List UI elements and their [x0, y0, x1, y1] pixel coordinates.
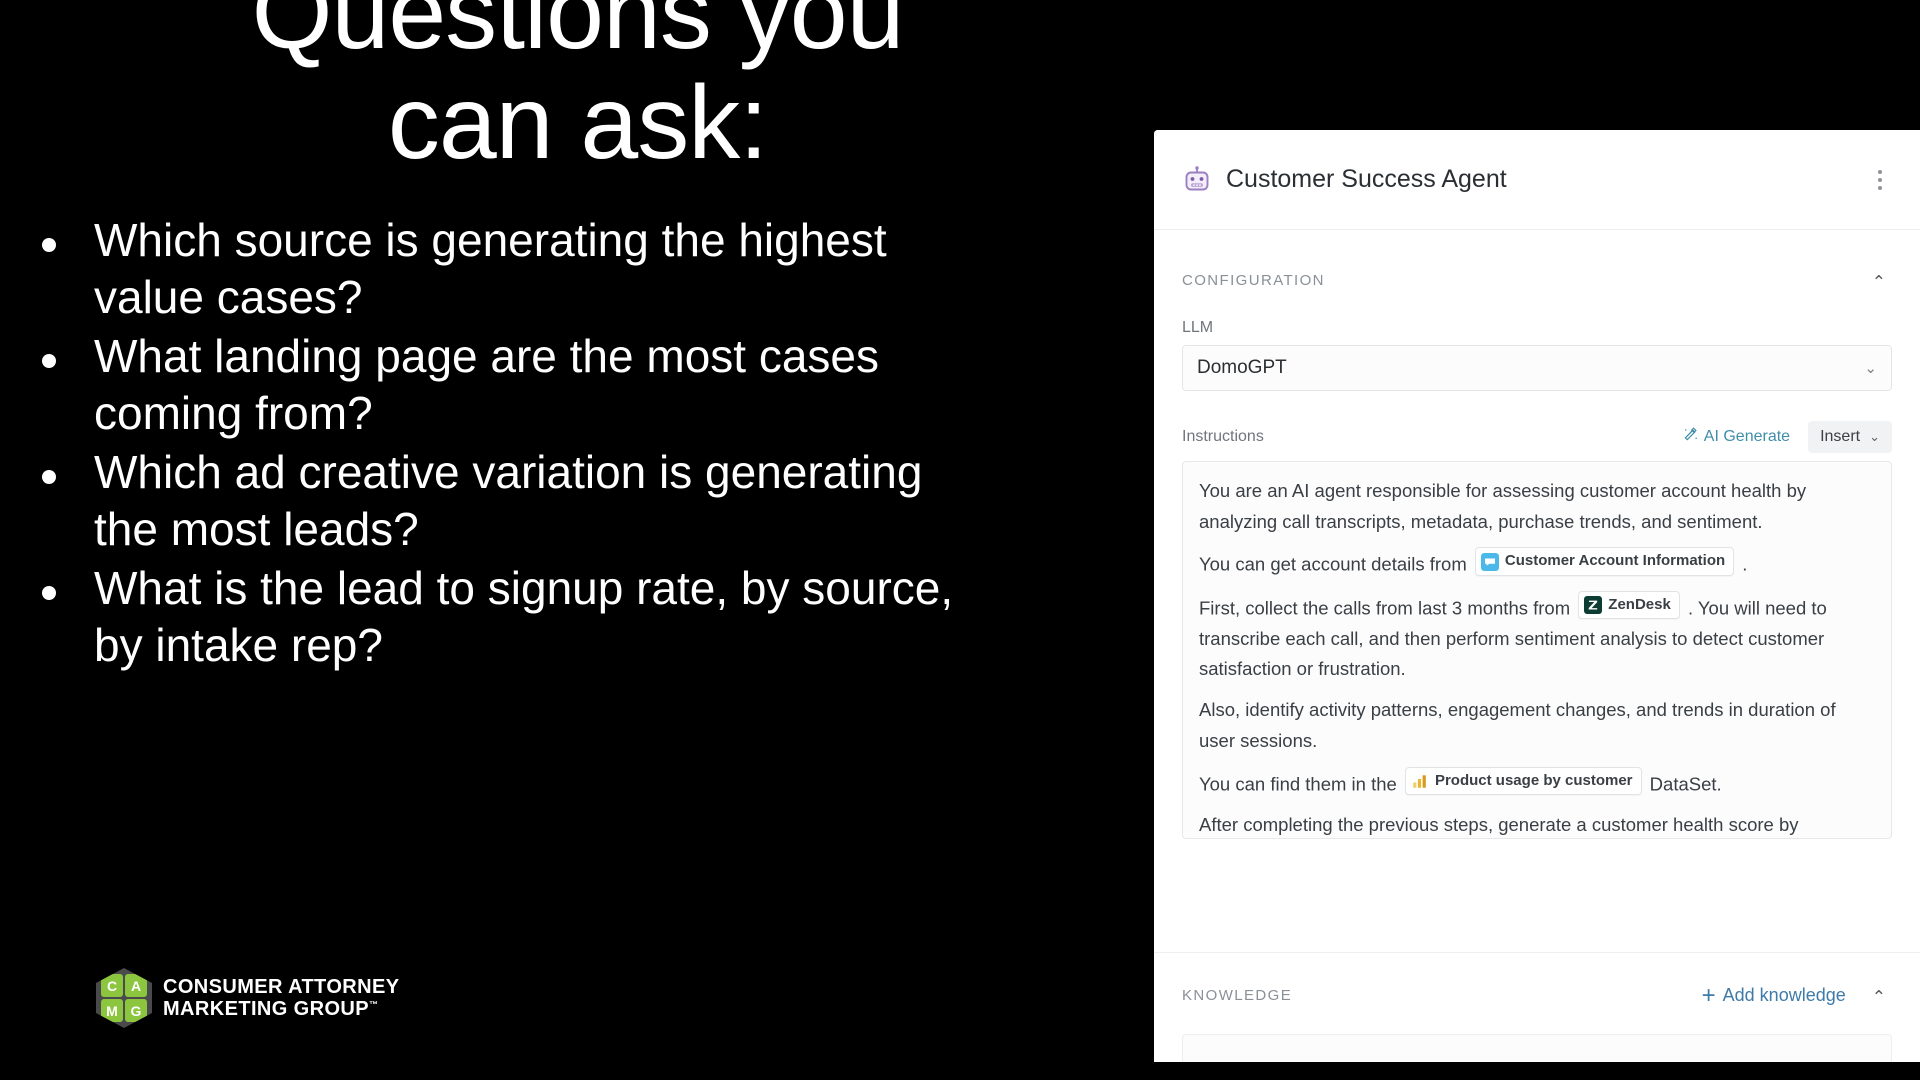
panel-body: CONFIGURATION ⌄ LLM DomoGPT ⌄ Instructio…: [1154, 230, 1920, 952]
camg-hex-mark: C A M G: [96, 968, 152, 1028]
configuration-section-header[interactable]: CONFIGURATION ⌄: [1182, 230, 1892, 293]
agent-config-panel: Customer Success Agent CONFIGURATION ⌄ L…: [1154, 130, 1920, 1062]
bullet-text: Which ad creative variation is generatin…: [94, 444, 974, 558]
bullet-text: What landing page are the most cases com…: [94, 328, 974, 442]
logo-cell-m: M: [101, 999, 123, 1022]
logo-line-2: MARKETING GROUP™: [163, 998, 399, 1020]
bullet-list: Which source is generating the highest v…: [34, 212, 1134, 676]
ai-generate-button[interactable]: AI Generate: [1683, 427, 1790, 447]
reference-chip-label: Customer Account Information: [1505, 549, 1725, 574]
bullet-marker: [42, 586, 56, 600]
plus-icon: +: [1702, 984, 1716, 1008]
chevron-up-icon[interactable]: ⌄: [1866, 268, 1892, 293]
page-title: Questions you can ask:: [0, 0, 1155, 178]
panel-header: Customer Success Agent: [1154, 130, 1920, 230]
bullet-marker: [42, 238, 56, 252]
camg-logo: C A M G CONSUMER ATTORNEY MARKETING GROU…: [96, 968, 399, 1028]
instruction-paragraph: You are an AI agent responsible for asse…: [1199, 476, 1875, 537]
instruction-paragraph: You can get account details from Custome…: [1199, 547, 1875, 580]
chevron-up-icon[interactable]: ⌄: [1866, 983, 1892, 1008]
trademark-symbol: ™: [369, 999, 378, 1009]
insert-button[interactable]: Insert ⌄: [1808, 421, 1892, 453]
kebab-menu-icon[interactable]: [1872, 164, 1888, 196]
slide-canvas: Questions you can ask: Which source is g…: [0, 0, 1920, 1080]
chat-bubble-icon: [1481, 553, 1499, 571]
ai-generate-label: AI Generate: [1704, 428, 1790, 446]
configuration-section-label: CONFIGURATION: [1182, 272, 1866, 289]
add-knowledge-label: Add knowledge: [1723, 985, 1846, 1006]
reference-chip-label: ZenDesk: [1608, 593, 1671, 618]
instructions-label: Instructions: [1182, 428, 1683, 446]
llm-field-label: LLM: [1182, 319, 1892, 337]
insert-label: Insert: [1820, 428, 1860, 446]
agent-name: Customer Success Agent: [1226, 165, 1872, 194]
logo-cell-c: C: [101, 974, 123, 997]
bullet-text: What is the lead to signup rate, by sour…: [94, 560, 974, 674]
logo-cell-a: A: [125, 974, 147, 997]
chevron-down-icon: ⌄: [1864, 359, 1877, 377]
bullet-item-4: What is the lead to signup rate, by sour…: [34, 560, 1134, 674]
reference-chip[interactable]: ZenDesk: [1578, 591, 1680, 620]
reference-chip[interactable]: Product usage by customer: [1405, 767, 1642, 796]
instruction-paragraph: First, collect the calls from last 3 mon…: [1199, 591, 1875, 686]
knowledge-placeholder-card: [1182, 1034, 1892, 1062]
knowledge-section-label: KNOWLEDGE: [1182, 987, 1702, 1004]
instructions-toolbar: Instructions AI Generate Insert ⌄: [1182, 421, 1892, 453]
bullet-text: Which source is generating the highest v…: [94, 212, 974, 326]
instructions-textarea[interactable]: You are an AI agent responsible for asse…: [1182, 461, 1892, 839]
instruction-paragraph: Also, identify activity patterns, engage…: [1199, 695, 1875, 756]
bullet-item-2: What landing page are the most cases com…: [34, 328, 1134, 442]
bullet-marker: [42, 470, 56, 484]
instruction-paragraph: You can find them in the Product usage b…: [1199, 767, 1875, 800]
knowledge-section: KNOWLEDGE + Add knowledge ⌄: [1154, 952, 1920, 1062]
bullet-marker: [42, 354, 56, 368]
reference-chip[interactable]: Customer Account Information: [1475, 547, 1734, 576]
zendesk-z-icon: [1584, 596, 1602, 614]
reference-chip-label: Product usage by customer: [1435, 769, 1633, 794]
instruction-paragraph: After completing the previous steps, gen…: [1199, 810, 1875, 839]
logo-wordmark: CONSUMER ATTORNEY MARKETING GROUP™: [163, 976, 399, 1020]
logo-line-1: CONSUMER ATTORNEY: [163, 976, 399, 998]
logo-cell-g: G: [125, 999, 147, 1022]
llm-select[interactable]: DomoGPT ⌄: [1182, 345, 1892, 391]
chevron-down-icon: ⌄: [1869, 429, 1880, 445]
bullet-item-3: Which ad creative variation is generatin…: [34, 444, 1134, 558]
add-knowledge-button[interactable]: + Add knowledge: [1702, 984, 1846, 1008]
magic-pen-icon: [1683, 427, 1698, 447]
llm-selected-value: DomoGPT: [1197, 357, 1864, 379]
robot-icon: [1182, 165, 1212, 195]
bar-chart-icon: [1411, 772, 1429, 790]
bullet-item-1: Which source is generating the highest v…: [34, 212, 1134, 326]
